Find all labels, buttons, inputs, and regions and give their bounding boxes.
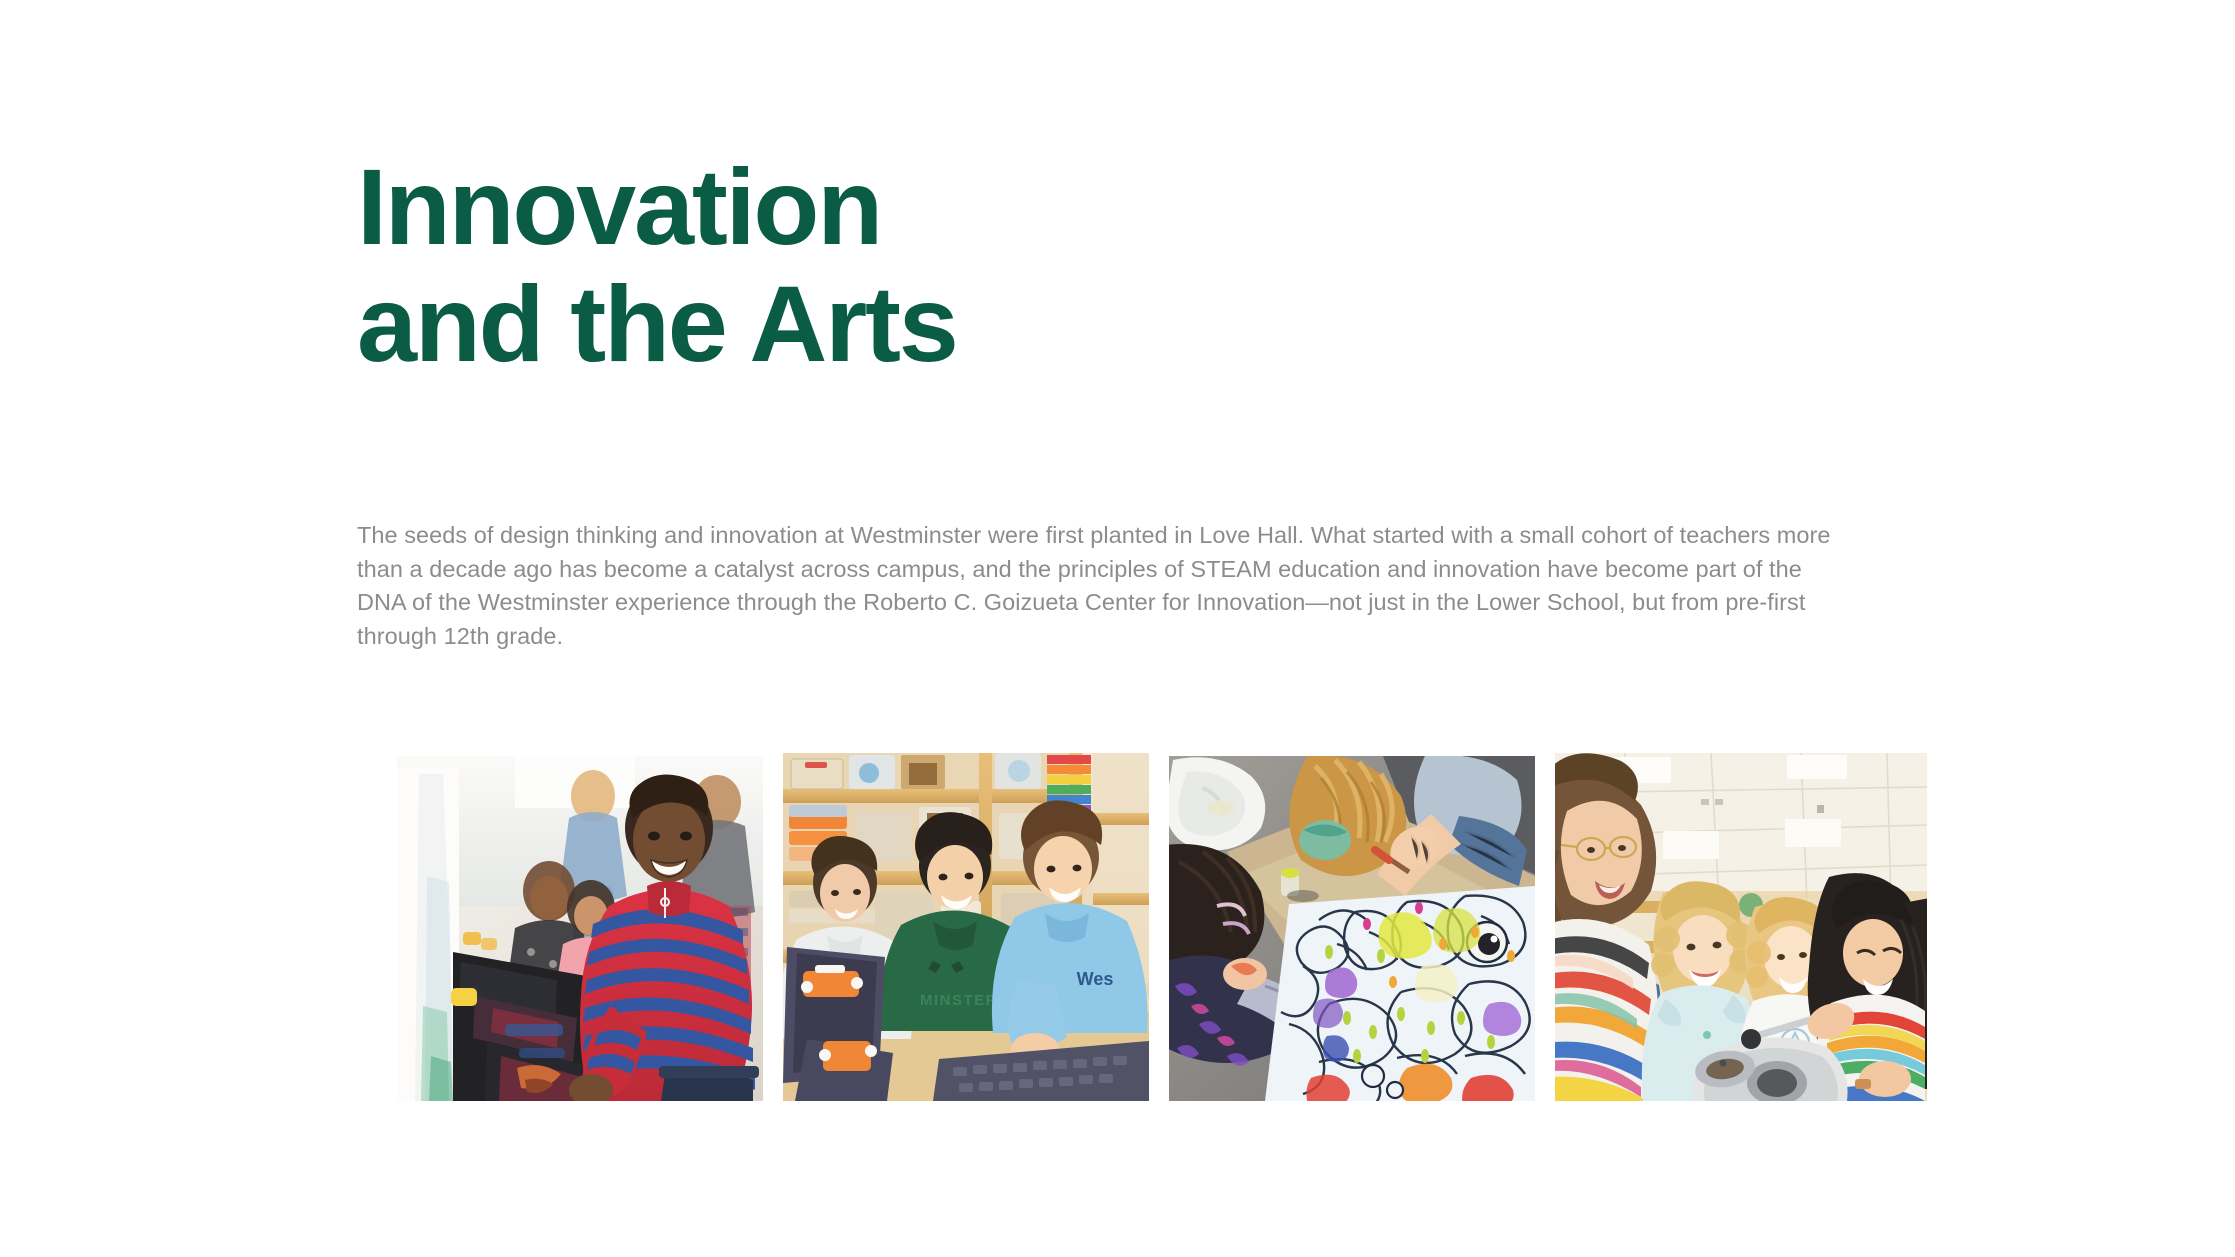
gallery-photo-3[interactable] bbox=[1169, 756, 1535, 1101]
gallery-photo-4[interactable] bbox=[1555, 753, 1927, 1101]
page-root: Innovation and the Arts The seeds of des… bbox=[0, 0, 2235, 1257]
photo-1-image bbox=[397, 756, 763, 1101]
photo-4-image bbox=[1555, 753, 1927, 1101]
photo-2-image: MINSTER bbox=[783, 753, 1149, 1101]
page-title: Innovation and the Arts bbox=[357, 148, 957, 382]
photo-3-image bbox=[1169, 756, 1535, 1101]
photo-gallery: MINSTER bbox=[357, 737, 1887, 1097]
gallery-photo-2[interactable]: MINSTER bbox=[783, 753, 1149, 1101]
intro-paragraph: The seeds of design thinking and innovat… bbox=[357, 519, 1837, 653]
gallery-photo-1[interactable] bbox=[397, 756, 763, 1101]
